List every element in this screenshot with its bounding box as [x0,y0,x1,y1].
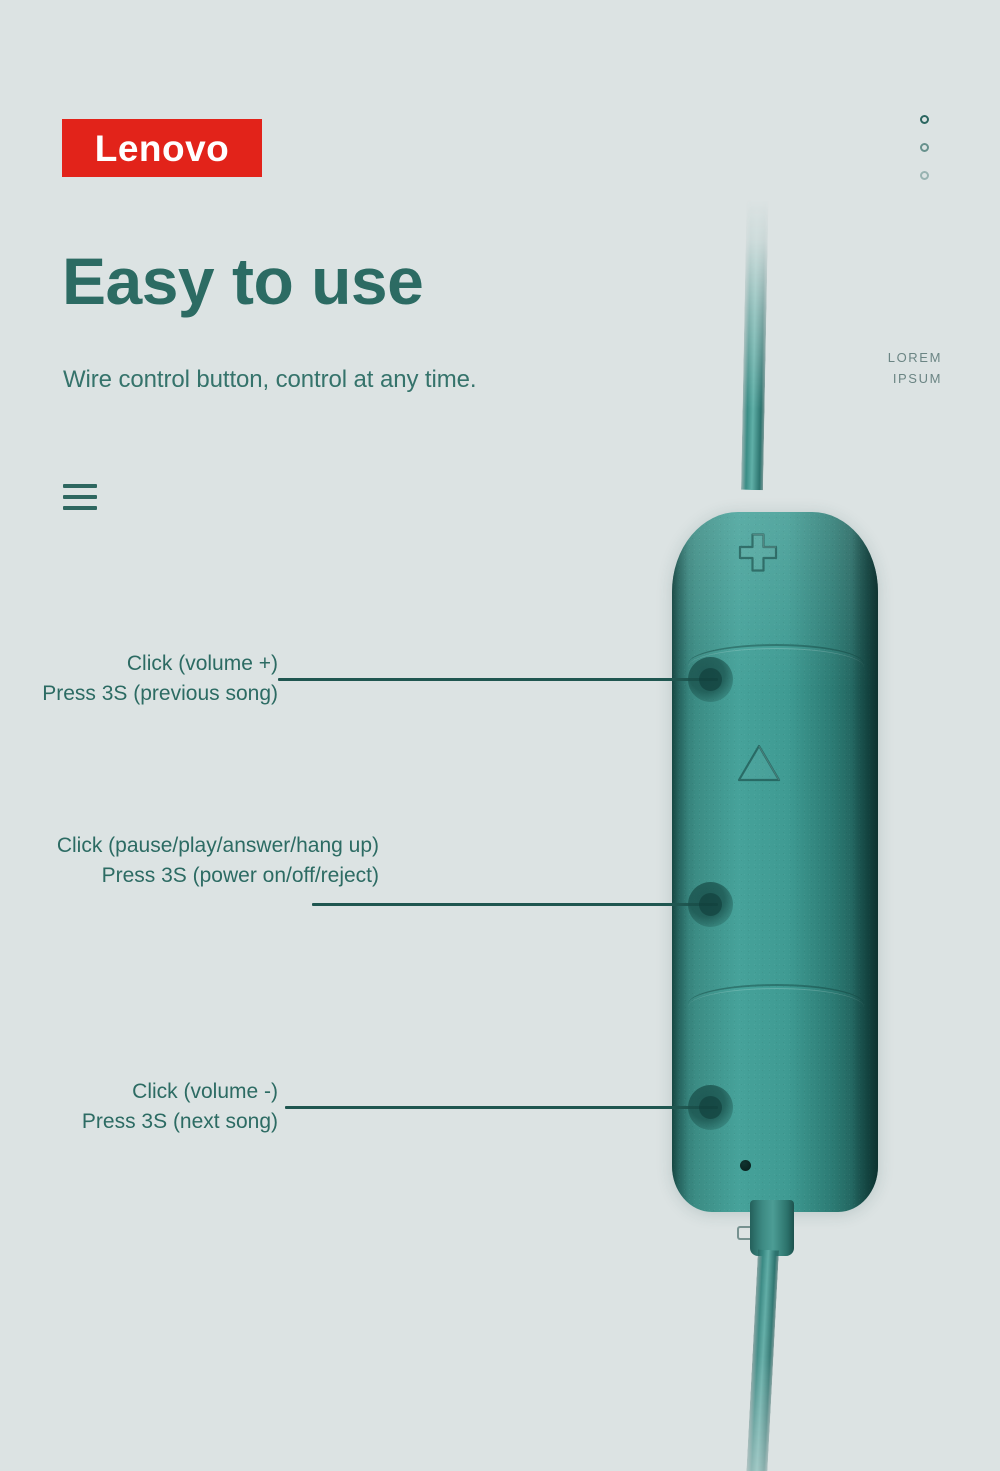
callout-play-pause-marker [688,882,733,927]
callout-play-pause-line-1: Click (pause/play/answer/hang up) [57,831,379,861]
callout-play-pause-label: Click (pause/play/answer/hang up) Press … [57,831,379,891]
callout-play-pause-line-2: Press 3S (power on/off/reject) [57,861,379,891]
callout-play-pause-leader-line [312,903,718,906]
callout-volume-up-label: Click (volume +) Press 3S (previous song… [42,649,278,709]
callout-volume-down-line-1: Click (volume -) [82,1077,278,1107]
circle-outline-icon-1 [920,115,929,124]
earphone-illustration [640,200,890,1471]
hamburger-icon [63,481,97,515]
callout-volume-down-line-2: Press 3S (next song) [82,1107,278,1137]
page-subtitle: Wire control button, control at any time… [63,366,476,394]
callout-volume-down-marker [688,1085,733,1130]
lenovo-wordmark: Lenovo [95,130,230,167]
product-infographic-page: Lenovo Easy to use Wire control button, … [0,0,1000,1471]
side-caption: LOREM IPSUM [888,347,942,390]
callout-volume-up-line-2: Press 3S (previous song) [42,679,278,709]
callout-volume-down-leader-line [285,1106,718,1109]
callout-volume-up-marker [688,657,733,702]
module-right-bevel [852,512,878,1212]
callout-volume-up-line-1: Click (volume +) [42,649,278,679]
hamburger-bar-3 [63,506,97,510]
side-caption-line-2: IPSUM [888,368,942,389]
callout-volume-down-label: Click (volume -) Press 3S (next song) [82,1077,278,1137]
callout-volume-up-leader-line [278,678,718,681]
hamburger-bar-2 [63,495,97,499]
page-title: Easy to use [62,247,423,316]
circle-outline-icon-3 [920,171,929,180]
cable-upper [741,200,769,490]
lenovo-logo: Lenovo [62,119,262,177]
hamburger-bar-1 [63,484,97,488]
side-caption-line-1: LOREM [888,347,942,368]
cable-lower [741,1249,779,1471]
cable-collar-bottom [750,1200,794,1256]
microphone-pinhole [740,1160,751,1171]
decorative-dots [920,110,946,200]
circle-outline-icon-2 [920,143,929,152]
